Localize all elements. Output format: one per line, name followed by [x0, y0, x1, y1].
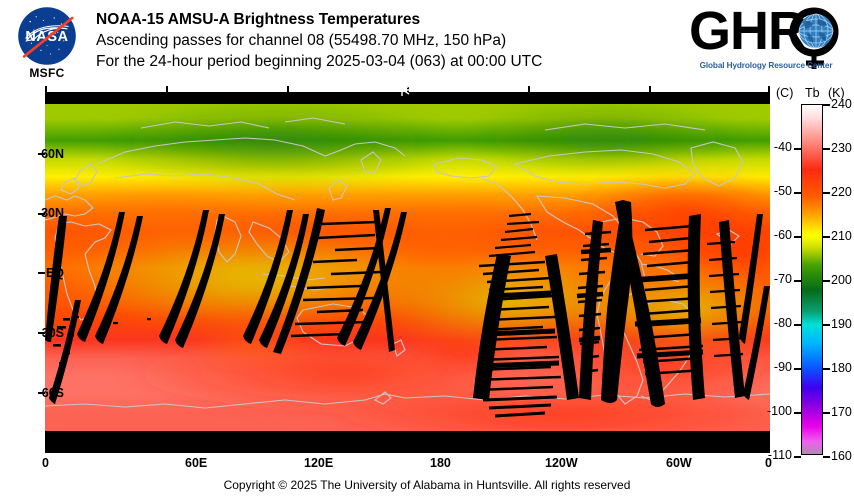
colorbar-label-c--100: -100	[767, 404, 792, 418]
ascending-node-arrow-icon	[398, 84, 442, 96]
colorbar-label-k-180: 180	[831, 361, 852, 375]
title-subline-channel: Ascending passes for channel 08 (55498.7…	[96, 30, 542, 51]
title-subline-period: For the 24-hour period beginning 2025-03…	[96, 51, 542, 72]
colorbar-label-c--40: -40	[774, 140, 792, 154]
colorbar-label-k-210: 210	[831, 229, 852, 243]
colorbar-header-celsius: (C)	[776, 86, 793, 100]
colorbar-tick-k-200	[823, 280, 830, 282]
colorbar-label-k-200: 200	[831, 273, 852, 287]
colorbar[interactable]	[801, 104, 823, 455]
lon-tick-60w	[649, 86, 651, 92]
colorbar-tick-k-180	[823, 368, 830, 370]
colorbar-tick-k-220	[823, 192, 830, 194]
lat-label-30s: 30S	[42, 326, 64, 340]
lon-label-60w: 60W	[666, 456, 692, 470]
lat-tick-30n	[38, 213, 45, 215]
colorbar-tick-k-160	[823, 456, 830, 458]
lon-tick-0	[45, 86, 47, 92]
title-block: NOAA-15 AMSU-A Brightness Temperatures A…	[96, 9, 542, 72]
lon-tick-120w	[528, 86, 530, 92]
colorbar-tick-k-230	[823, 148, 830, 150]
nasa-seal-icon: NASA	[17, 6, 77, 66]
colorbar-label-c--60: -60	[774, 228, 792, 242]
nasa-logo: NASA MSFC	[12, 6, 82, 86]
colorbar-tick-k-190	[823, 324, 830, 326]
lon-label-60e: 60E	[185, 456, 207, 470]
colorbar-tick-c--60	[794, 236, 801, 238]
colorbar-tick-k-170	[823, 412, 830, 414]
page-header: NASA MSFC NOAA-15 AMSU-A Brightness Temp…	[0, 0, 854, 90]
colorbar-tick-c--100	[794, 412, 801, 414]
colorbar-tick-k-210	[823, 236, 830, 238]
colorbar-label-k-230: 230	[831, 141, 852, 155]
colorbar-tick-c--40	[794, 148, 801, 150]
ghrc-tagline: Global Hydrology Resource Center	[691, 61, 841, 70]
colorbar-header-tb: Tb	[805, 86, 820, 100]
colorbar-label-k-190: 190	[831, 317, 852, 331]
lat-tick-30s	[38, 332, 45, 334]
colorbar-tick-c--90	[794, 368, 801, 370]
lon-label-120e: 120E	[304, 456, 333, 470]
lat-label-60s: 60S	[42, 386, 64, 400]
colorbar-label-c--50: -50	[774, 184, 792, 198]
map-frame	[45, 92, 770, 453]
lon-label-120w: 120W	[545, 456, 578, 470]
lat-tick-60s	[38, 392, 45, 394]
nasa-center-label: MSFC	[12, 66, 82, 80]
colorbar-gradient	[801, 104, 823, 455]
colorbar-label-k-170: 170	[831, 405, 852, 419]
lat-tick-eq	[38, 272, 45, 274]
colorbar-tick-c--80	[794, 324, 801, 326]
lon-tick-120e	[287, 86, 289, 92]
lon-label-180: 180	[430, 456, 451, 470]
lon-tick-360	[768, 86, 770, 92]
colorbar-label-k-220: 220	[831, 185, 852, 199]
colorbar-label-c--110: -110	[768, 448, 792, 462]
page-title: NOAA-15 AMSU-A Brightness Temperatures	[96, 9, 542, 30]
colorbar-tick-c--70	[794, 280, 801, 282]
svg-text:GHR: GHR	[690, 5, 806, 61]
colorbar-tick-c--110	[794, 456, 801, 458]
colorbar-label-c--80: -80	[774, 316, 792, 330]
colorbar-tick-k-240	[823, 104, 830, 106]
lat-label-eq: EQ	[46, 266, 64, 280]
colorbar-label-c--70: -70	[774, 272, 792, 286]
colorbar-tick-c--50	[794, 192, 801, 194]
satellite-swath-gaps	[45, 104, 770, 431]
copyright-notice: Copyright © 2025 The University of Alaba…	[0, 478, 854, 492]
lon-label-0-left: 0	[42, 456, 49, 470]
colorbar-label-k-240: 240	[831, 97, 852, 111]
colorbar-label-k-160: 160	[831, 449, 852, 463]
lon-tick-60e	[166, 86, 168, 92]
map-canvas[interactable]	[45, 104, 770, 431]
lat-tick-60n	[38, 153, 45, 155]
colorbar-label-c--90: -90	[774, 360, 792, 374]
